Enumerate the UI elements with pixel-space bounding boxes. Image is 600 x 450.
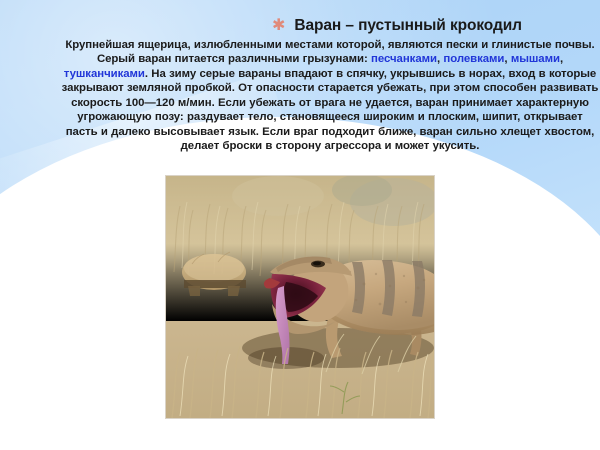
highlighted-term[interactable]: полевками: [443, 53, 504, 65]
slide-title-row: ✱ Варан – пустынный крокодил: [272, 16, 522, 35]
slide: ✱ Варан – пустынный крокодил Крупнейшая …: [0, 0, 600, 450]
highlighted-term[interactable]: песчанками: [371, 53, 437, 65]
page-title: Варан – пустынный крокодил: [294, 16, 521, 35]
asterisk-bullet-icon: ✱: [272, 16, 285, 35]
slide-content: ✱ Варан – пустынный крокодил Крупнейшая …: [0, 0, 600, 450]
highlighted-term[interactable]: мышами: [511, 53, 560, 65]
body-text-run: . На зиму серые вараны впадают в спячку,…: [62, 68, 599, 152]
highlighted-term[interactable]: тушканчиками: [64, 68, 145, 80]
body-text-run: ,: [560, 53, 563, 65]
body-paragraph: Крупнейшая ящерица, излюбленными местами…: [60, 38, 600, 154]
desert-monitor-lizard-photo: [166, 176, 434, 418]
